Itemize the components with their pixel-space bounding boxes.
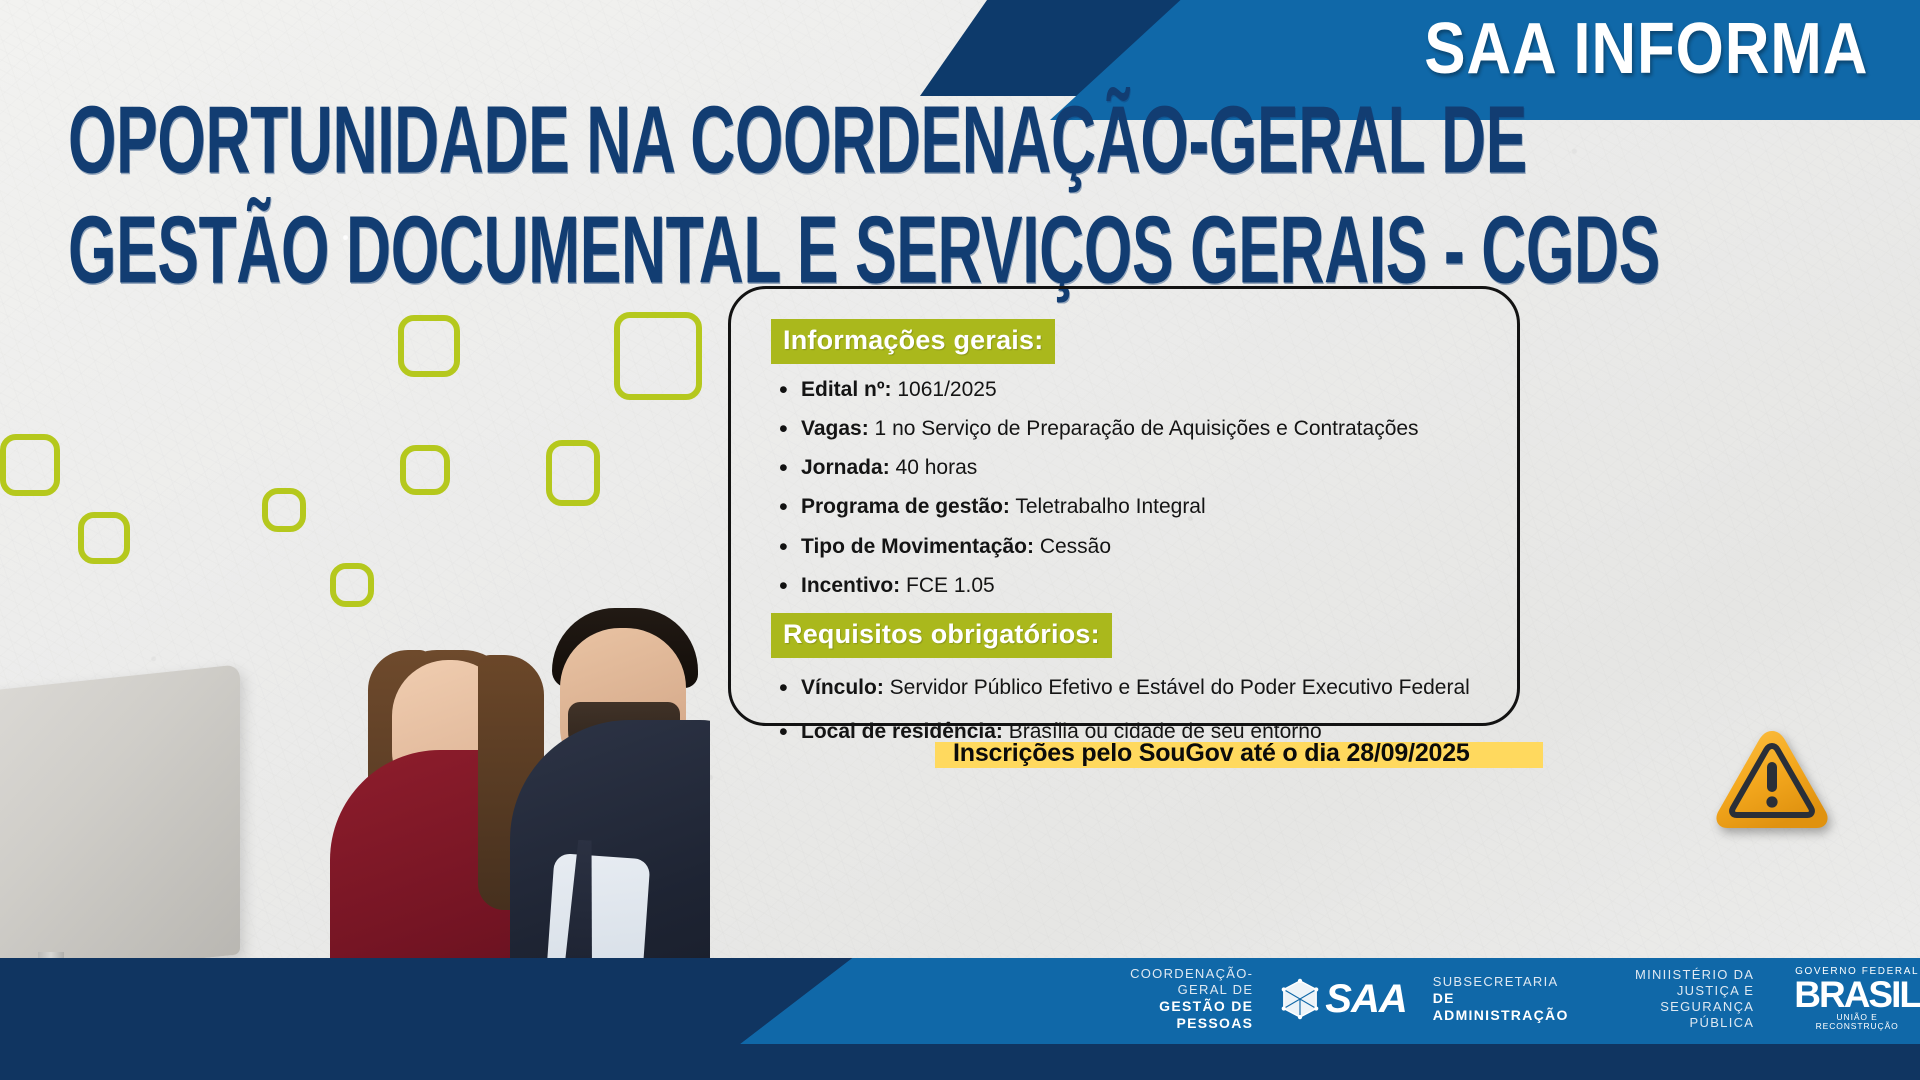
item-value: Servidor Público Efetivo e Estável do Po… — [884, 676, 1470, 699]
subsecretaria-line-1: SUBSECRETARIA — [1433, 974, 1569, 990]
saa-informa-label: SAA INFORMA — [1424, 8, 1868, 90]
decorative-square — [0, 434, 60, 496]
decorative-square — [546, 440, 600, 506]
cggp-logo: COORDENAÇÃO-GERAL DE GESTÃO DE PESSOAS — [1100, 966, 1253, 1032]
decorative-square — [614, 312, 702, 400]
list-item: Jornada: 40 horas — [779, 456, 1491, 480]
item-label: Vagas: — [801, 417, 869, 440]
item-label: Edital nº: — [801, 378, 892, 401]
item-value: 1061/2025 — [892, 378, 997, 401]
list-item: Programa de gestão: Teletrabalho Integra… — [779, 495, 1491, 519]
item-label: Incentivo: — [801, 574, 900, 597]
subsecretaria-logo: SUBSECRETARIA DE ADMINISTRAÇÃO — [1433, 974, 1569, 1024]
ministry-logo: MINIISTÉRIO DA JUSTIÇA E SEGURANÇA PÚBLI… — [1629, 967, 1755, 1030]
item-value: FCE 1.05 — [900, 574, 995, 597]
decorative-square — [400, 445, 450, 495]
brasil-logo: GOVERNO FEDERAL BRASIL UNIÃO E RECONSTRU… — [1794, 966, 1920, 1031]
ministry-line-3: SEGURANÇA PÚBLICA — [1629, 999, 1755, 1031]
item-label: Programa de gestão: — [801, 495, 1010, 518]
list-item: Vínculo: Servidor Público Efetivo e Está… — [779, 676, 1491, 700]
cggp-line-2: GESTÃO DE PESSOAS — [1100, 998, 1253, 1032]
decorative-square — [398, 315, 460, 377]
saa-network-icon — [1279, 978, 1321, 1020]
item-value: Teletrabalho Integral — [1010, 495, 1206, 518]
ministry-line-2: JUSTIÇA E — [1629, 983, 1755, 999]
list-item: Tipo de Movimentação: Cessão — [779, 535, 1491, 559]
general-info-title: Informações gerais: — [771, 319, 1055, 364]
brasil-tagline: UNIÃO E RECONSTRUÇÃO — [1794, 1013, 1920, 1032]
decorative-square — [262, 488, 306, 532]
cggp-line-1: COORDENAÇÃO-GERAL DE — [1100, 966, 1253, 998]
item-value: 1 no Serviço de Preparação de Aquisições… — [869, 417, 1419, 440]
general-info-list: Edital nº: 1061/2025 Vagas: 1 no Serviço… — [779, 378, 1491, 598]
monitor-screen — [0, 664, 240, 986]
item-value: Cessão — [1034, 535, 1111, 558]
page-title: OPORTUNIDADE NA COORDENAÇÃO-GERAL DE GES… — [68, 86, 1298, 284]
requirements-list: Vínculo: Servidor Público Efetivo e Está… — [779, 676, 1491, 744]
footer: COORDENAÇÃO-GERAL DE GESTÃO DE PESSOAS — [0, 958, 1920, 1080]
information-card: Informações gerais: Edital nº: 1061/2025… — [728, 286, 1520, 726]
ministry-line-1: MINIISTÉRIO DA — [1629, 967, 1755, 983]
subsecretaria-line-2: DE ADMINISTRAÇÃO — [1433, 990, 1569, 1024]
list-item: Incentivo: FCE 1.05 — [779, 574, 1491, 598]
item-label: Jornada: — [801, 456, 890, 479]
footer-logos: COORDENAÇÃO-GERAL DE GESTÃO DE PESSOAS — [1100, 970, 1920, 1028]
poster-canvas: SAA INFORMA OPORTUNIDADE NA COORDENAÇÃO-… — [0, 0, 1920, 1080]
deadline-banner: Inscrições pelo SouGov até o dia 28/09/2… — [935, 740, 1555, 774]
item-value: 40 horas — [890, 456, 978, 479]
deadline-text: Inscrições pelo SouGov até o dia 28/09/2… — [953, 739, 1470, 768]
headline-line-1: OPORTUNIDADE NA COORDENAÇÃO-GERAL DE — [68, 86, 1052, 193]
list-item: Edital nº: 1061/2025 — [779, 378, 1491, 402]
saa-logo: SAA — [1279, 977, 1406, 1022]
warning-triangle-icon — [1712, 726, 1832, 834]
list-item: Vagas: 1 no Serviço de Preparação de Aqu… — [779, 417, 1491, 441]
brasil-wordmark: BRASIL — [1794, 977, 1920, 1013]
requirements-title: Requisitos obrigatórios: — [771, 613, 1112, 658]
item-label: Vínculo: — [801, 676, 884, 699]
item-label: Tipo de Movimentação: — [801, 535, 1034, 558]
saa-wordmark: SAA — [1325, 977, 1406, 1022]
